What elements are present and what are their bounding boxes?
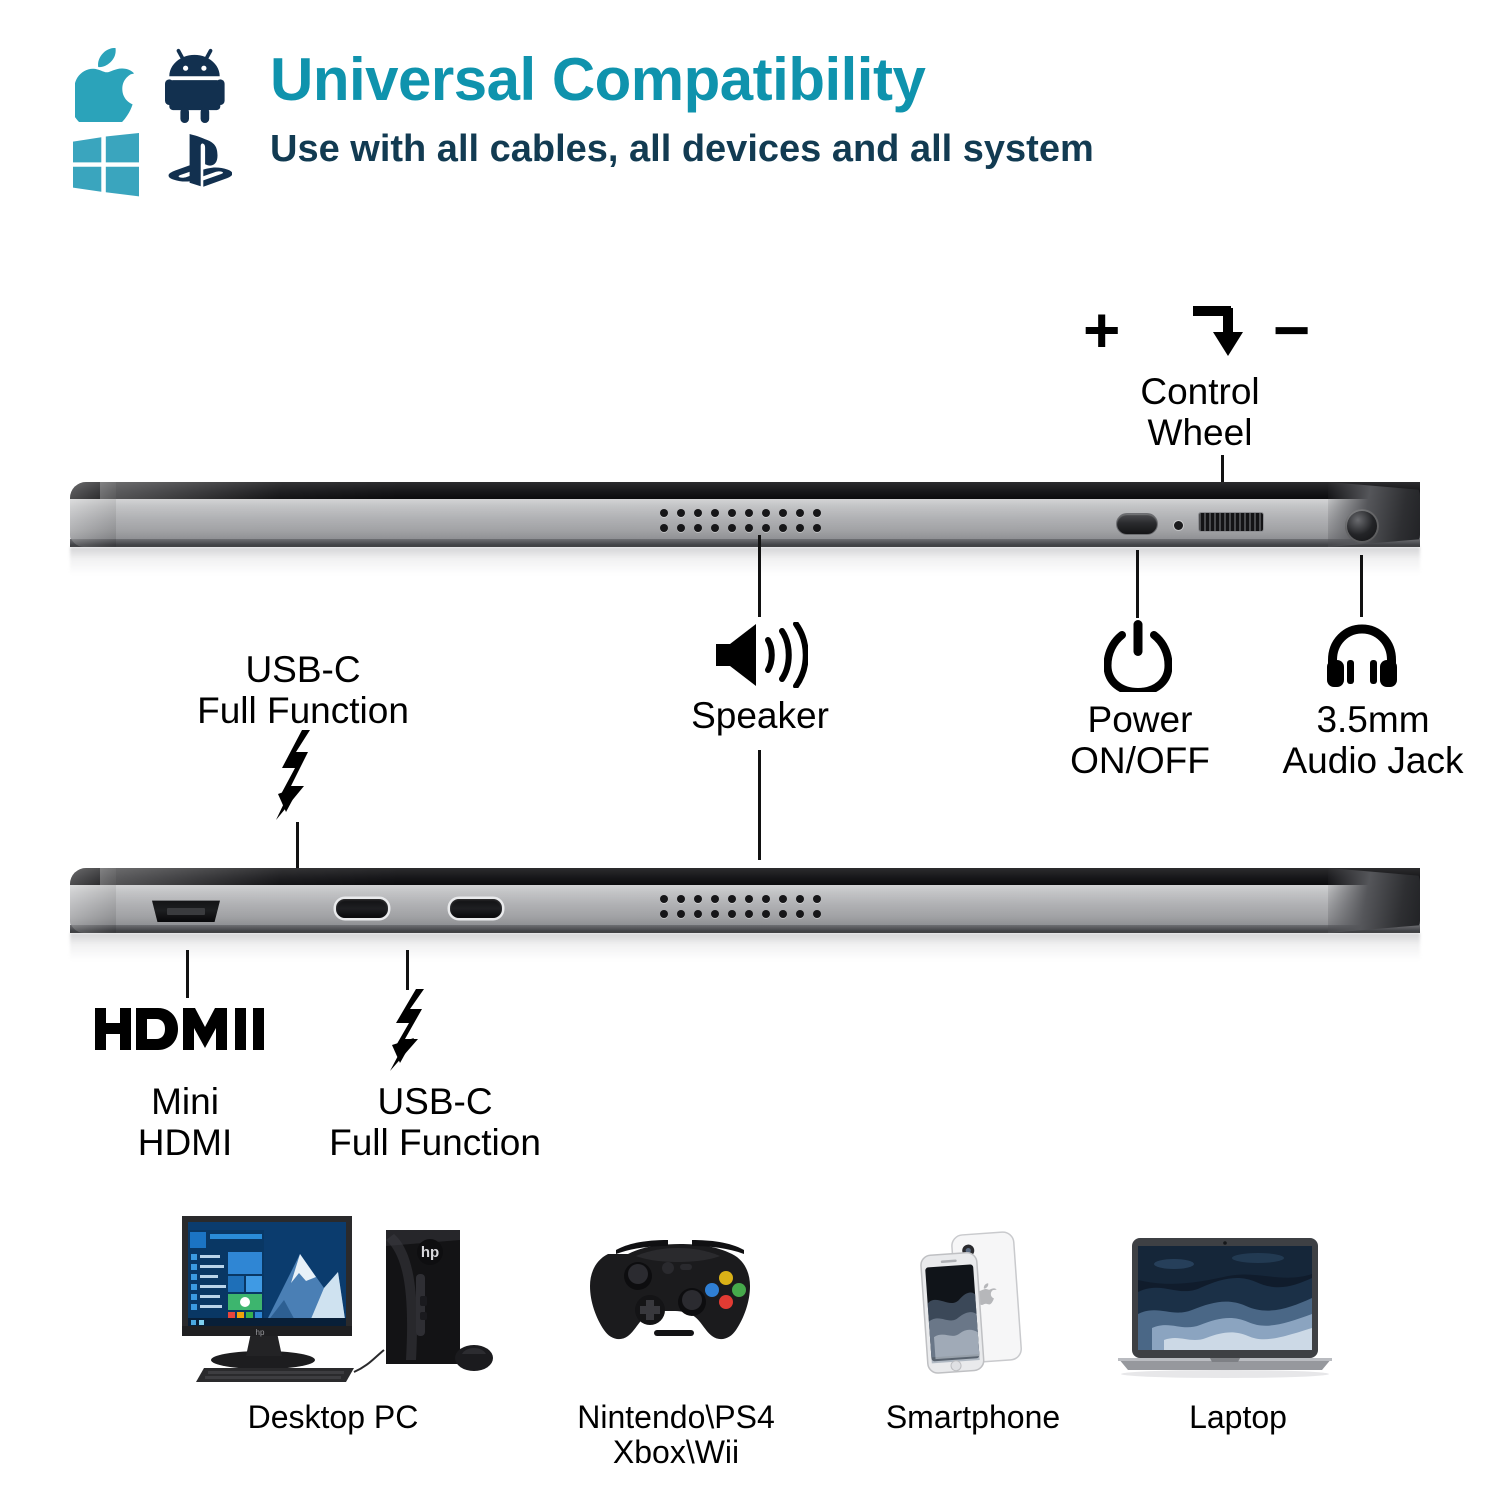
- usbc-bottom-leader-line: [406, 950, 409, 990]
- laptop-label: Laptop: [1118, 1400, 1358, 1435]
- header-banner: Universal Compatibility Use with all cab…: [0, 0, 1500, 230]
- control-wheel-label-line2: Wheel: [1090, 413, 1310, 454]
- game-console-label: Nintendo\PS4 Xbox\Wii: [556, 1400, 796, 1469]
- power-button[interactable]: [1116, 513, 1158, 535]
- desktop-pc-image: hp hp: [168, 1208, 498, 1388]
- plus-symbol: +: [1083, 298, 1120, 362]
- minus-symbol: −: [1273, 298, 1310, 362]
- monitor-bottom-edge-view: [70, 868, 1420, 950]
- control-wheel-label-line1: Control: [1090, 372, 1310, 413]
- audio-jack-label: 3.5mm Audio Jack: [1268, 700, 1478, 781]
- laptop-image: [1118, 1232, 1358, 1382]
- page-subtitle: Use with all cables, all devices and all…: [270, 129, 1450, 171]
- platform-logo-grid: [62, 44, 252, 209]
- down-arrow-icon: [1187, 302, 1249, 363]
- audio-jack-leader-line: [1360, 555, 1363, 617]
- smartphone-label: Smartphone: [868, 1400, 1078, 1435]
- monitor-lower-lip-2: [70, 925, 1420, 933]
- monitor-reflection: [70, 547, 1420, 581]
- infographic-canvas: Universal Compatibility Use with all cab…: [0, 0, 1500, 1500]
- usbc-bottom-label: USB-C Full Function: [310, 1082, 560, 1163]
- power-leader-line: [1136, 550, 1139, 618]
- monitor-bevel-2: [70, 868, 1420, 885]
- power-label: Power ON/OFF: [1050, 700, 1230, 781]
- svg-text:hp: hp: [256, 1328, 265, 1337]
- apple-logo-icon: [62, 44, 150, 126]
- mini-hdmi-label-line2: HDMI: [100, 1123, 270, 1164]
- smartphone-image: [898, 1228, 1048, 1383]
- usbc-port-1[interactable]: [336, 899, 388, 918]
- android-logo-icon: [150, 44, 246, 126]
- control-wheel[interactable]: [1198, 512, 1264, 532]
- headphones-icon: [1322, 620, 1402, 692]
- led-indicator: [1174, 521, 1183, 530]
- usbc-top-label-line1: USB-C: [178, 650, 428, 691]
- usbc-top-label-line2: Full Function: [178, 691, 428, 732]
- monitor-top-edge-view: [70, 482, 1420, 564]
- speaker-icon: [705, 620, 815, 690]
- laptop-label-line1: Laptop: [1118, 1400, 1358, 1435]
- hdmi-leader-line: [186, 950, 189, 998]
- control-wheel-label: Control Wheel: [1090, 372, 1310, 453]
- game-console-label-line2: Xbox\Wii: [556, 1435, 796, 1470]
- usbc-bottom-label-line2: Full Function: [310, 1123, 560, 1164]
- header-text-block: Universal Compatibility Use with all cab…: [270, 48, 1450, 171]
- usbc-bottom-label-line1: USB-C: [310, 1082, 560, 1123]
- speaker-label-text: Speaker: [660, 696, 860, 737]
- mini-hdmi-label: Mini HDMI: [100, 1082, 270, 1163]
- speaker-label: Speaker: [660, 696, 860, 737]
- page-title: Universal Compatibility: [270, 48, 1450, 111]
- mini-hdmi-label-line1: Mini: [100, 1082, 270, 1123]
- audio-jack-label-line1: 3.5mm: [1268, 700, 1478, 741]
- game-console-label-line1: Nintendo\PS4: [556, 1400, 796, 1435]
- monitor-reflection-2: [70, 933, 1420, 967]
- desktop-pc-label-line1: Desktop PC: [168, 1400, 498, 1435]
- desktop-pc-label: Desktop PC: [168, 1400, 498, 1435]
- windows-logo-icon: [62, 126, 150, 204]
- svg-text:hp: hp: [421, 1244, 439, 1261]
- game-controller-image: [576, 1232, 776, 1382]
- speaker-grille: [660, 509, 830, 539]
- lightning-bolt-icon-2: [372, 990, 452, 1070]
- monitor-lower-lip: [70, 539, 1420, 547]
- usbc-top-label: USB-C Full Function: [178, 650, 428, 731]
- power-label-line1: Power: [1050, 700, 1230, 741]
- control-wheel-symbols: + −: [1075, 300, 1325, 360]
- usbc-port-2[interactable]: [450, 899, 502, 918]
- monitor-bevel: [70, 482, 1420, 499]
- power-icon: [1100, 618, 1176, 694]
- audio-jack-label-line2: Audio Jack: [1268, 741, 1478, 782]
- speaker-leader-line: [758, 535, 761, 617]
- smartphone-label-line1: Smartphone: [868, 1400, 1078, 1435]
- hdmi-logo: [95, 1008, 265, 1055]
- hdmi-wordmark-icon: [95, 1008, 265, 1050]
- speaker-grille-2: [660, 895, 830, 925]
- lightning-bolt-icon: [258, 730, 338, 820]
- speaker-lower-leader-line: [758, 750, 761, 860]
- power-label-line2: ON/OFF: [1050, 741, 1230, 782]
- audio-jack-port[interactable]: [1345, 509, 1379, 543]
- playstation-logo-icon: [150, 126, 246, 204]
